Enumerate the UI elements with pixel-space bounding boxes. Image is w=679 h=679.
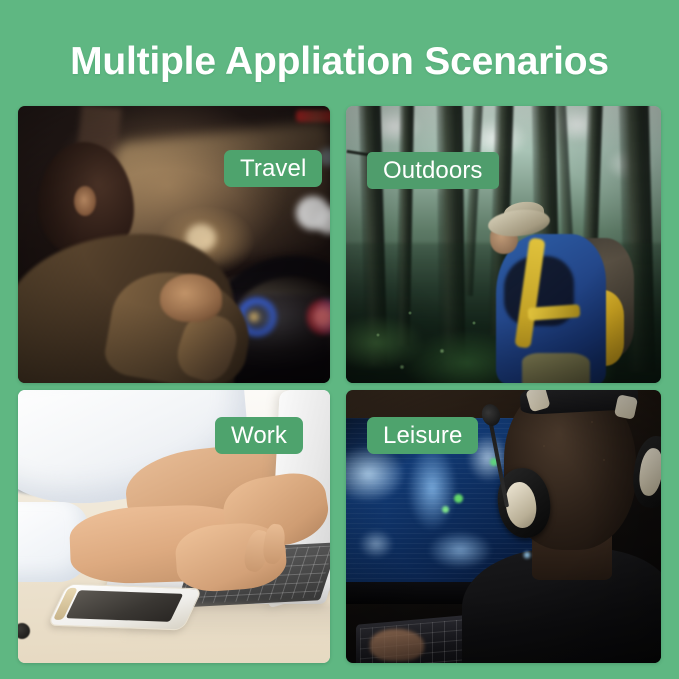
scenario-card-travel[interactable]: Travel bbox=[18, 106, 330, 383]
scenario-card-outdoors[interactable]: Outdoors bbox=[346, 106, 661, 383]
promo-poster: Multiple Appliation Scenarios bbox=[0, 0, 679, 679]
travel-photo bbox=[18, 106, 330, 383]
page-title: Multiple Appliation Scenarios bbox=[0, 30, 679, 92]
page-title-text: Multiple Appliation Scenarios bbox=[70, 42, 609, 81]
vignette bbox=[346, 106, 661, 383]
badge-work: Work bbox=[215, 417, 303, 454]
phone-screen bbox=[66, 590, 184, 622]
smartphone bbox=[47, 584, 203, 631]
vignette bbox=[18, 106, 330, 383]
badge-outdoors: Outdoors bbox=[367, 152, 499, 189]
scenario-card-leisure[interactable]: Leisure bbox=[346, 390, 661, 663]
scenario-grid: Travel bbox=[18, 106, 661, 663]
badge-travel: Travel bbox=[224, 150, 322, 187]
outdoors-photo bbox=[346, 106, 661, 383]
badge-leisure: Leisure bbox=[367, 417, 478, 454]
scenario-card-work[interactable]: Work bbox=[18, 390, 330, 663]
